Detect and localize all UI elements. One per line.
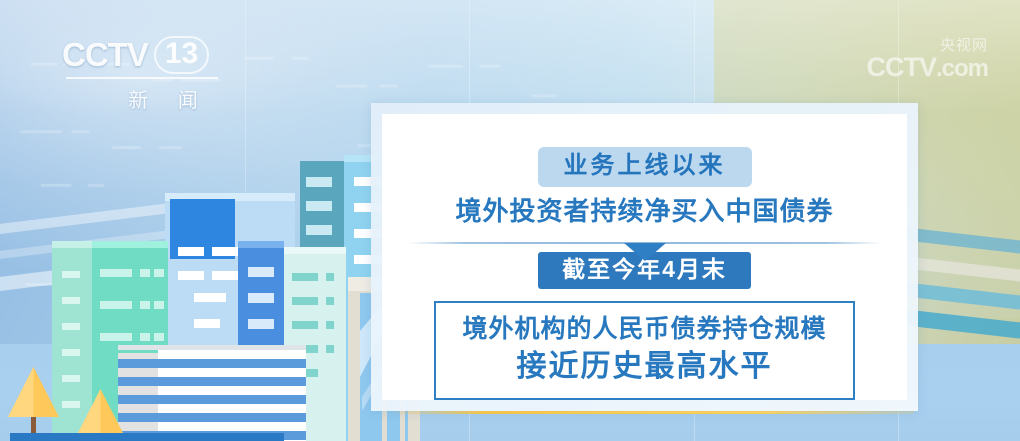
city-skyline-illustration bbox=[0, 81, 420, 441]
watermark-com-text: .com bbox=[936, 55, 988, 83]
info-panel-content: 业务上线以来 境外投资者持续净买入中国债券 截至今年4月末 境外机构的人民币债券… bbox=[382, 114, 907, 400]
section-two-box-line-2: 接近历史最高水平 bbox=[436, 348, 853, 386]
triangle-down-icon bbox=[624, 243, 666, 261]
watermark-cn-label: 央视网 bbox=[940, 38, 988, 53]
section-two-box: 境外机构的人民币债券持仓规模 接近历史最高水平 bbox=[434, 301, 855, 400]
info-panel: 业务上线以来 境外投资者持续净买入中国债券 截至今年4月末 境外机构的人民币债券… bbox=[371, 103, 918, 411]
broadcast-screen: CCTV 13 新 闻 央视网 CCTV .com 业务上线以来 境外投资者持续… bbox=[0, 0, 1020, 441]
cctv-wordmark: CCTV bbox=[62, 38, 148, 71]
cctv13-logo: CCTV 13 新 闻 bbox=[62, 36, 242, 116]
cctv-logo-row: CCTV 13 bbox=[62, 36, 242, 74]
cctv-logo-subtitle: 新 闻 bbox=[62, 84, 242, 113]
section-one-pill: 业务上线以来 bbox=[538, 147, 752, 187]
section-one-headline: 境外投资者持续净买入中国债券 bbox=[455, 196, 833, 227]
cctv-logo-rule bbox=[66, 77, 218, 79]
panel-gold-accent-line bbox=[389, 411, 914, 414]
cctv-channel-number: 13 bbox=[154, 36, 209, 74]
watermark-main-row: CCTV .com bbox=[866, 52, 988, 83]
info-panel-inner: 业务上线以来 境外投资者持续净买入中国债券 截至今年4月末 境外机构的人民币债券… bbox=[382, 114, 907, 400]
cctv-com-watermark: 央视网 CCTV .com bbox=[866, 38, 988, 83]
section-two-box-line-1: 境外机构的人民币债券持仓规模 bbox=[436, 314, 853, 345]
section-divider bbox=[408, 242, 882, 249]
watermark-cctv-text: CCTV bbox=[866, 52, 936, 83]
